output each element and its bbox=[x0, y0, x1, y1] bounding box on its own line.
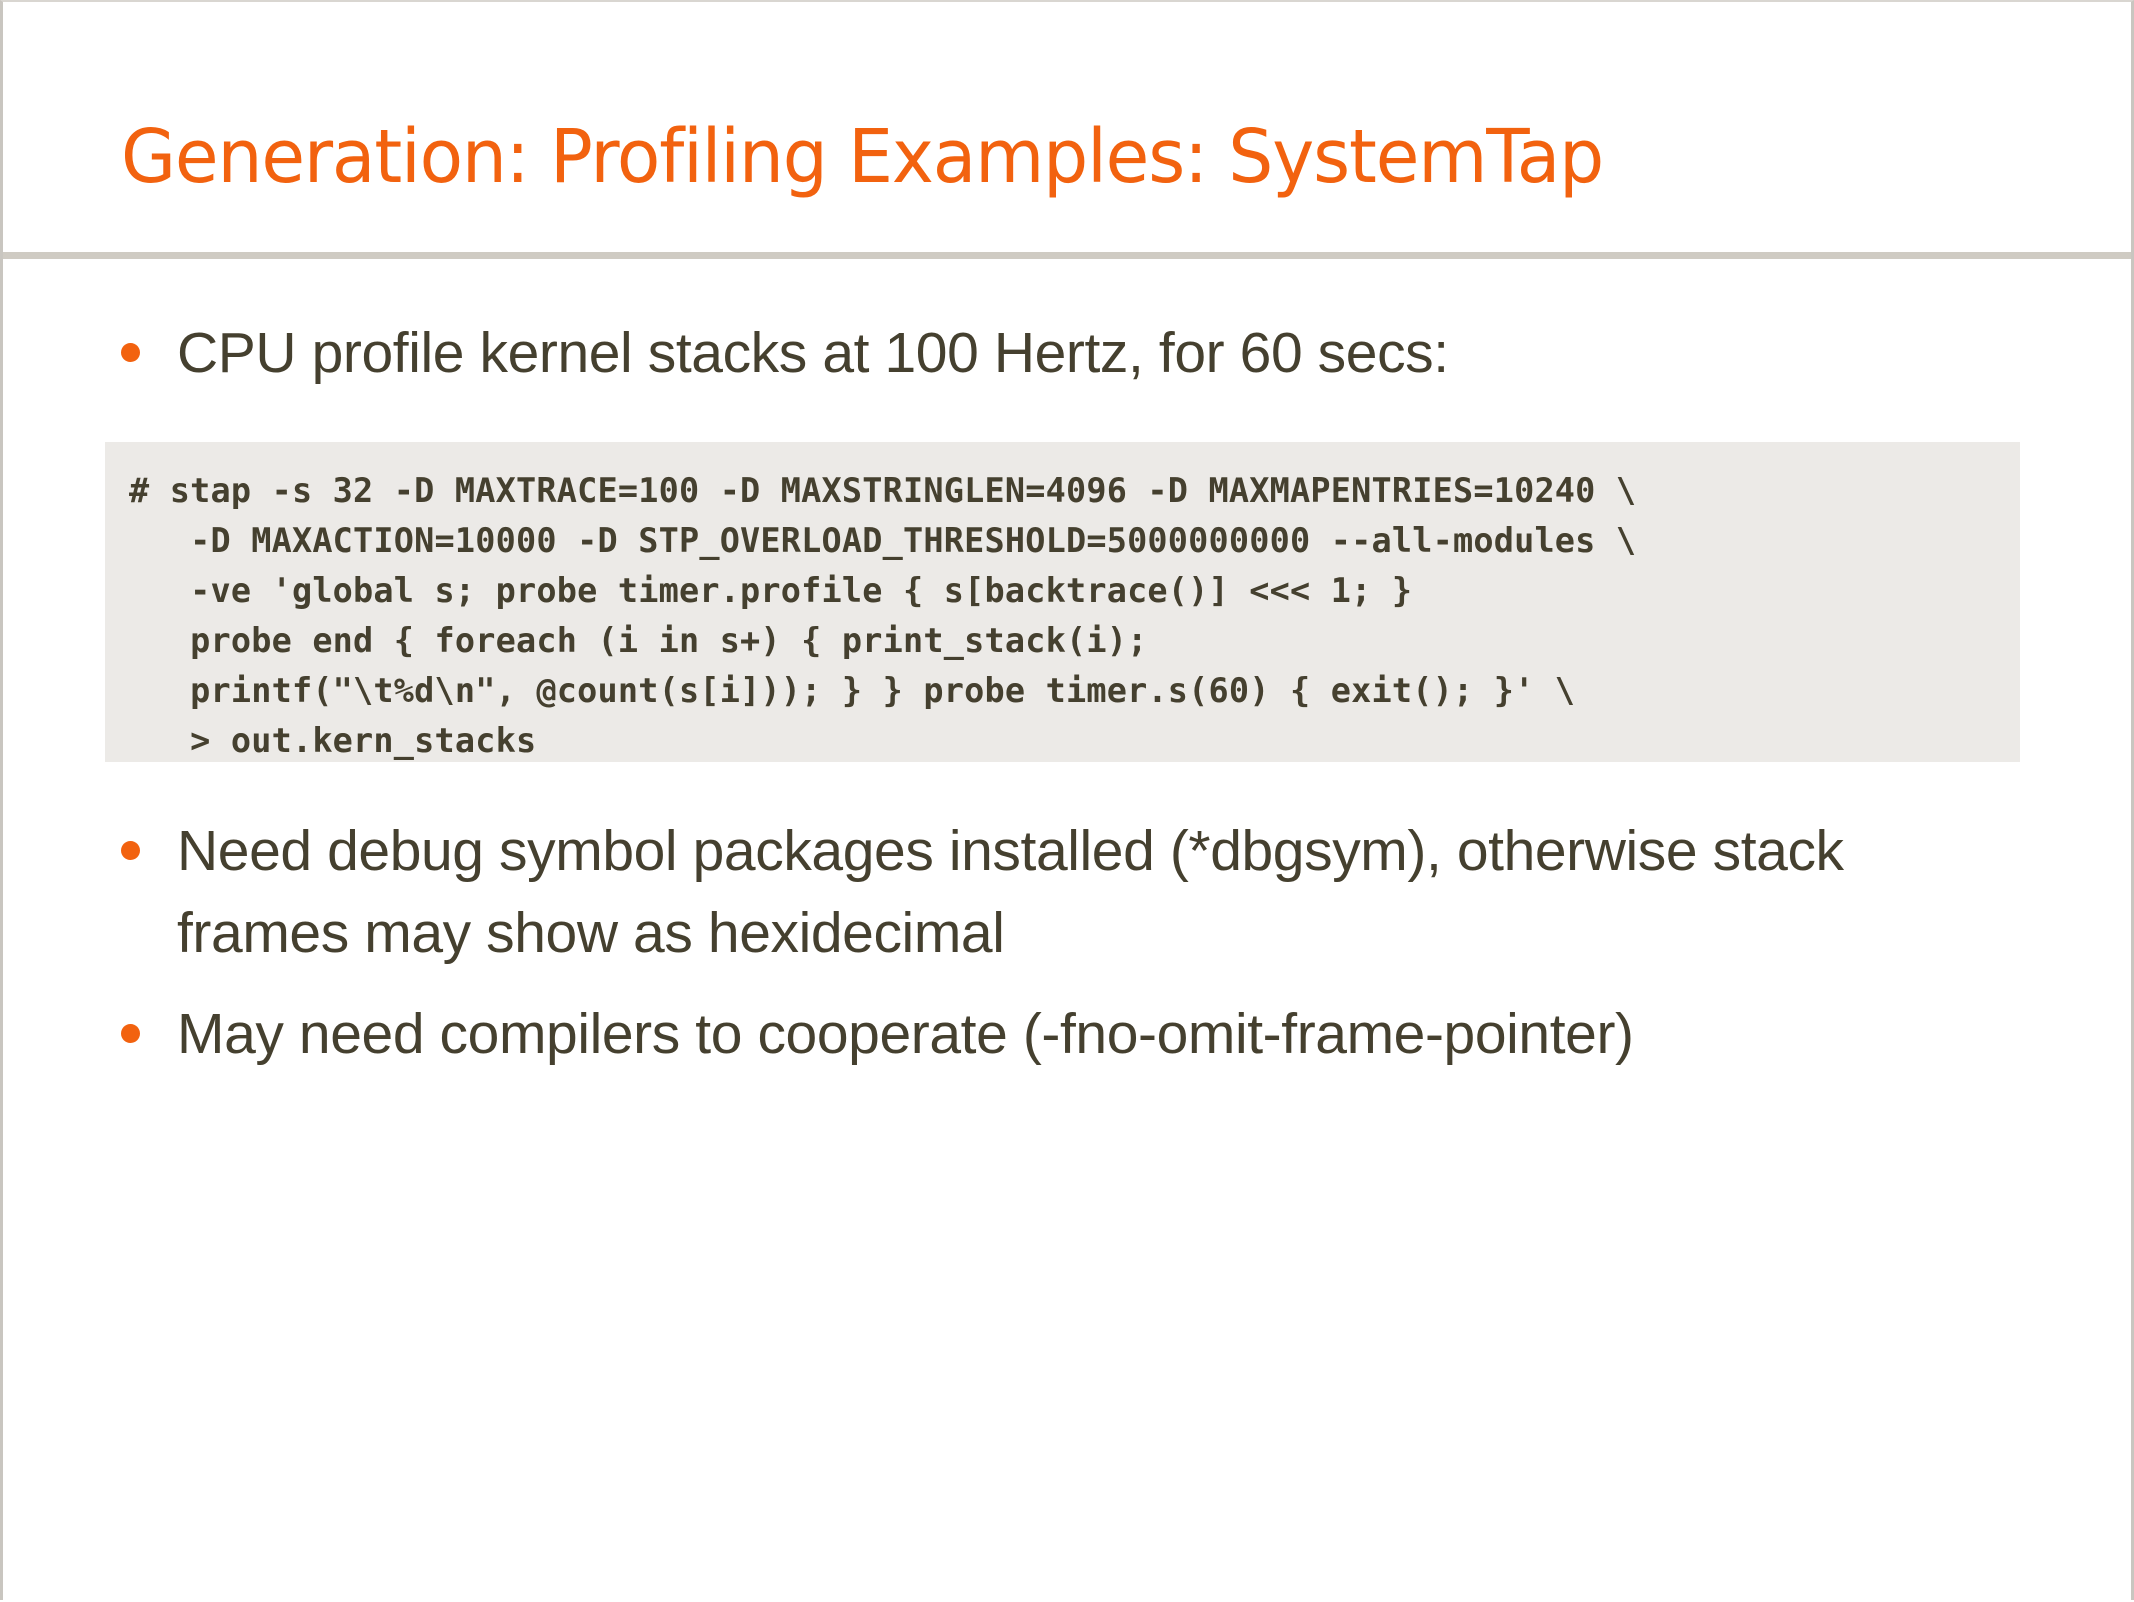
bullet-item-1: CPU profile kernel stacks at 100 Hertz, … bbox=[121, 312, 2021, 394]
code-line-5: printf("\t%d\n", @count(s[i])); } } prob… bbox=[105, 666, 2020, 716]
bullet-dot-icon bbox=[121, 1024, 140, 1043]
bullet-dot-icon bbox=[121, 343, 140, 362]
code-line-3: -ve 'global s; probe timer.profile { s[b… bbox=[105, 566, 2020, 616]
bullet-item-3: May need compilers to cooperate (-fno-om… bbox=[121, 993, 2021, 1075]
bullet-item-2-label: Need debug symbol packages installed (*d… bbox=[177, 810, 2001, 974]
bullet-item-2: Need debug symbol packages installed (*d… bbox=[121, 810, 2001, 974]
code-block: # stap -s 32 -D MAXTRACE=100 -D MAXSTRIN… bbox=[105, 442, 2020, 762]
code-line-6: > out.kern_stacks bbox=[105, 716, 2020, 762]
slide-body: CPU profile kernel stacks at 100 Hertz, … bbox=[3, 255, 2131, 1602]
bullet-item-1-label: CPU profile kernel stacks at 100 Hertz, … bbox=[177, 312, 2021, 394]
slide: Generation: Profiling Examples: SystemTa… bbox=[0, 0, 2134, 1600]
code-line-4: probe end { foreach (i in s+) { print_st… bbox=[105, 616, 2020, 666]
code-line-1: # stap -s 32 -D MAXTRACE=100 -D MAXSTRIN… bbox=[105, 466, 2020, 516]
code-line-2: -D MAXACTION=10000 -D STP_OVERLOAD_THRES… bbox=[105, 516, 2020, 566]
bullet-dot-icon bbox=[121, 841, 140, 860]
page-title: Generation: Profiling Examples: SystemTa… bbox=[121, 120, 1603, 194]
bullet-item-3-label: May need compilers to cooperate (-fno-om… bbox=[177, 993, 2021, 1075]
slide-header: Generation: Profiling Examples: SystemTa… bbox=[3, 2, 2131, 255]
